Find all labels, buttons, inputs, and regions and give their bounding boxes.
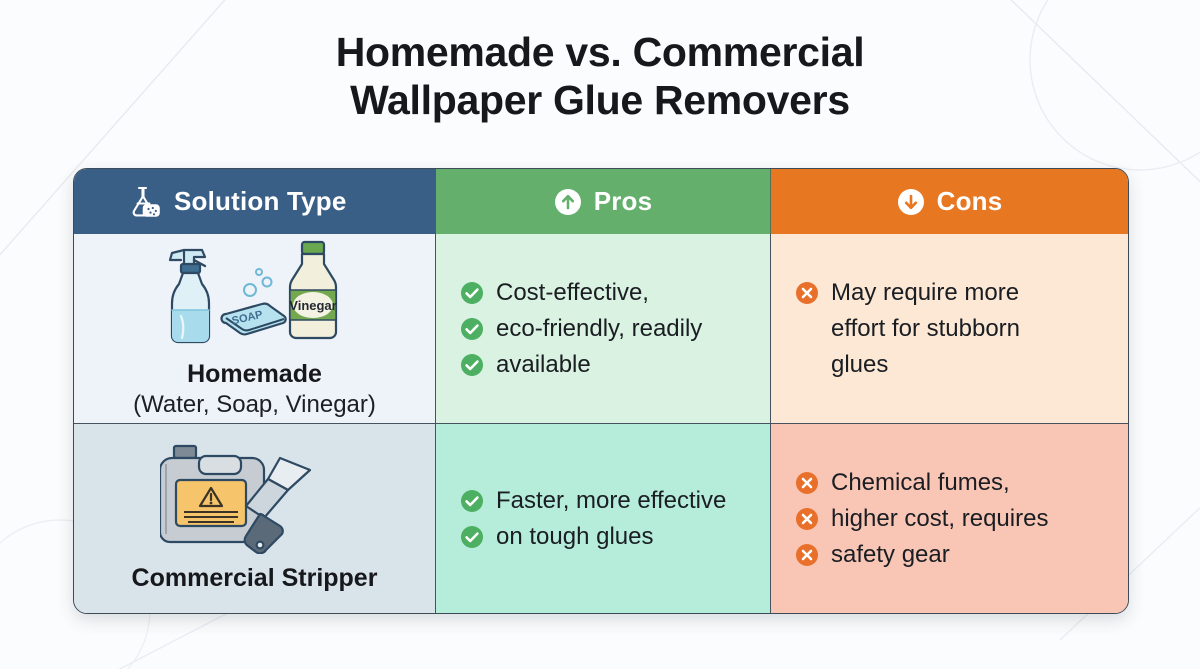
- solution-type-name: Commercial Stripper: [132, 563, 378, 593]
- list-item-text: glues: [831, 347, 888, 383]
- list-item: Cost-effective,: [460, 275, 754, 311]
- cross-circle-icon: [795, 543, 819, 567]
- list-item-text: higher cost, requires: [831, 501, 1048, 537]
- table-row: SOAP: [74, 234, 1128, 423]
- list-item: glues: [795, 347, 1112, 383]
- list-item-text: Faster, more effective: [496, 483, 726, 519]
- cross-circle-icon: [795, 281, 819, 305]
- check-circle-icon: [460, 353, 484, 377]
- header-label-cons: Cons: [937, 186, 1003, 217]
- infographic-page: Homemade vs. Commercial Wallpaper Glue R…: [0, 0, 1200, 669]
- list-item-text: on tough glues: [496, 519, 653, 555]
- list-item: eco-friendly, readily: [460, 311, 754, 347]
- list-item-text: available: [496, 347, 591, 383]
- list-item-text: effort for stubborn: [831, 311, 1020, 347]
- cons-list: May require more effort for stubborn: [795, 275, 1112, 383]
- list-item: higher cost, requires: [795, 501, 1112, 537]
- page-title-line-1: Homemade vs. Commercial: [0, 28, 1200, 76]
- cons-list: Chemical fumes, higher cost, requires: [795, 465, 1112, 573]
- list-item-text: May require more: [831, 275, 1019, 311]
- list-item-text: Chemical fumes,: [831, 465, 1010, 501]
- header-label-solution-type: Solution Type: [174, 186, 347, 217]
- cell-solution-type-homemade: SOAP: [74, 234, 435, 423]
- list-item: May require more: [795, 275, 1112, 311]
- flask-sponge-icon: [124, 185, 162, 219]
- list-item: Chemical fumes,: [795, 465, 1112, 501]
- list-item: safety gear: [795, 537, 1112, 573]
- table-row: Commercial Stripper Faster, more effecti…: [74, 423, 1128, 613]
- list-item: effort for stubborn: [795, 311, 1112, 347]
- table-header-row: Solution Type Pros Con: [74, 169, 1128, 234]
- list-item-text: Cost-effective,: [496, 275, 649, 311]
- header-cell-cons: Cons: [770, 169, 1128, 234]
- cross-circle-icon: [795, 471, 819, 495]
- header-label-pros: Pros: [594, 186, 653, 217]
- cell-solution-type-commercial: Commercial Stripper: [74, 424, 435, 613]
- pros-list: Cost-effective, eco-friendly, readily: [460, 275, 754, 383]
- spray-bottle-soap-vinegar-illustration: SOAP: [150, 238, 360, 355]
- cell-pros-commercial: Faster, more effective on tough glues: [435, 424, 770, 613]
- header-cell-solution-type: Solution Type: [74, 169, 435, 234]
- list-item: on tough glues: [460, 519, 754, 555]
- list-item-text: eco-friendly, readily: [496, 311, 702, 347]
- vinegar-label: Vinegar: [289, 298, 336, 313]
- solution-type-name: Homemade: [187, 359, 322, 389]
- check-circle-icon: [460, 281, 484, 305]
- arrow-down-circle-icon: [897, 188, 925, 216]
- cell-cons-commercial: Chemical fumes, higher cost, requires: [770, 424, 1128, 613]
- check-circle-icon: [460, 489, 484, 513]
- jerrycan-warning-scraper-illustration: [160, 442, 350, 559]
- check-circle-icon: [460, 525, 484, 549]
- check-circle-icon: [460, 317, 484, 341]
- arrow-up-circle-icon: [554, 188, 582, 216]
- list-item-text: safety gear: [831, 537, 950, 573]
- list-item: available: [460, 347, 754, 383]
- page-title: Homemade vs. Commercial Wallpaper Glue R…: [0, 28, 1200, 125]
- cross-circle-icon: [795, 507, 819, 531]
- header-cell-pros: Pros: [435, 169, 770, 234]
- cell-cons-homemade: May require more effort for stubborn: [770, 234, 1128, 423]
- solution-type-subtitle: (Water, Soap, Vinegar): [133, 391, 376, 420]
- list-item: Faster, more effective: [460, 483, 754, 519]
- page-title-line-2: Wallpaper Glue Removers: [0, 76, 1200, 124]
- pros-list: Faster, more effective on tough glues: [460, 483, 754, 555]
- cell-pros-homemade: Cost-effective, eco-friendly, readily: [435, 234, 770, 423]
- comparison-table: Solution Type Pros Con: [73, 168, 1129, 614]
